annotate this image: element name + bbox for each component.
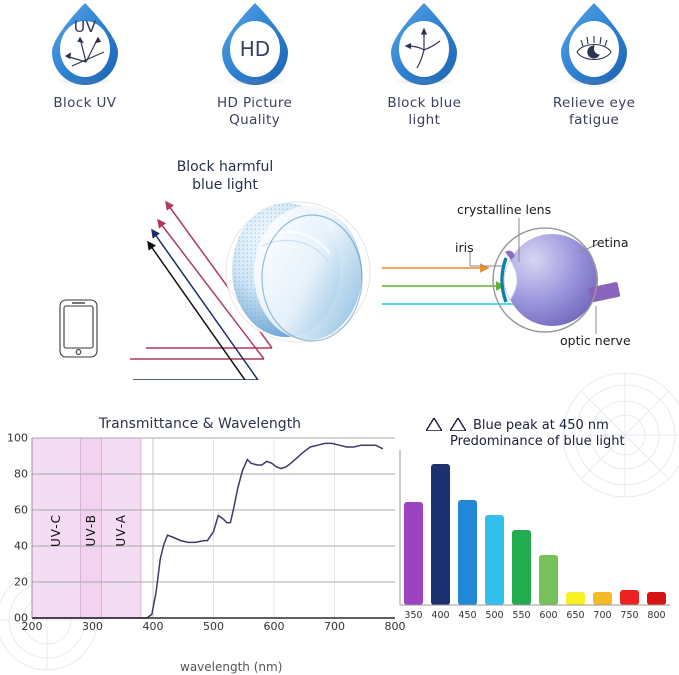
label-optic-nerve: optic nerve [560, 333, 631, 348]
bar-tick-label: 650 [566, 610, 584, 621]
x-tick-label: 300 [82, 620, 103, 633]
blue-light-spectrum-chart: Blue peak at 450 nm Predominance of blue… [380, 410, 679, 634]
bar-tick-label: 800 [647, 610, 665, 621]
label-crystalline-lens: crystalline lens [457, 202, 551, 217]
x-tick-label: 200 [22, 620, 43, 633]
feature-label-line1: Block blue [387, 95, 461, 112]
y-tick-label: 20 [14, 576, 28, 589]
droplet-shadow [224, 78, 286, 85]
bar-tick-label: 600 [539, 610, 557, 621]
feature-label-line1: Relieve eye [553, 95, 635, 112]
phone-icon [60, 300, 97, 357]
y-tick-label: 40 [14, 540, 28, 553]
x-tick-label: 500 [203, 620, 224, 633]
x-tick-label: 400 [143, 620, 164, 633]
feature-label-line1: HD Picture [217, 95, 292, 112]
y-tick-label: 80 [14, 468, 28, 481]
feature-block-blue-light: Block blue light [340, 0, 510, 140]
bar [485, 515, 504, 605]
blue-light-blocking-diagram: Block harmful blue light [0, 140, 679, 380]
transmittance-wavelength-chart: Transmittance & Wavelength 0020406080100… [0, 410, 400, 654]
feature-hd-picture-quality: HD HD Picture Quality [170, 0, 340, 140]
triangle-marker-1 [426, 418, 442, 431]
predominance-annotation: Predominance of blue light [450, 434, 625, 449]
feature-highlights: UV Block UV HD [0, 0, 679, 140]
feature-label: Block UV [53, 95, 116, 112]
feature-label: Block blue light [387, 95, 461, 129]
x-tick-label: 600 [264, 620, 285, 633]
blue-light-lens [226, 202, 370, 342]
hd-droplet-icon: HD [212, 0, 298, 86]
x-axis-label: wavelength (nm) [180, 660, 282, 674]
bar [431, 464, 450, 605]
eye-droplet-icon [551, 0, 637, 86]
y-tick-label: 60 [14, 504, 28, 517]
svg-text:UV: UV [74, 17, 97, 36]
bar [404, 502, 423, 605]
bar-tick-label: 500 [485, 610, 503, 621]
droplet-shadow [393, 78, 455, 85]
feature-label-line2: light [387, 112, 461, 129]
bar-tick-label: 450 [458, 610, 476, 621]
label-retina: retina [592, 235, 629, 250]
bar-tick-label: 700 [593, 610, 611, 621]
triangle-marker-2 [450, 418, 466, 431]
feature-relieve-eye-fatigue: Relieve eye fatigue [509, 0, 679, 140]
uv-band-label: UV-C [49, 514, 63, 547]
label-iris: iris [455, 240, 474, 255]
y-tick-label: 100 [7, 432, 28, 445]
feature-label: Relieve eye fatigue [553, 95, 635, 129]
bar [539, 555, 558, 605]
uv-droplet-icon: UV [42, 0, 128, 86]
bar [647, 592, 666, 605]
uv-band-label: UV-A [114, 514, 128, 547]
bar-tick-label: 400 [431, 610, 449, 621]
feature-label-line2: fatigue [553, 112, 635, 129]
bar [566, 592, 585, 605]
blue-light-droplet-icon [381, 0, 467, 86]
bar [620, 590, 639, 605]
feature-label-line2: Quality [217, 112, 292, 129]
bar [512, 530, 531, 605]
blue-peak-annotation: Blue peak at 450 nm [473, 418, 609, 433]
charts-section: Transmittance & Wavelength 0020406080100… [0, 380, 679, 654]
bar-tick-label: 750 [620, 610, 638, 621]
bar-tick-label: 350 [404, 610, 422, 621]
x-tick-label: 700 [324, 620, 345, 633]
uv-band-label: UV-B [84, 514, 98, 546]
feature-block-uv: UV Block UV [0, 0, 170, 140]
feature-label: HD Picture Quality [217, 95, 292, 129]
bar [593, 592, 612, 605]
bar [458, 500, 477, 605]
bars-container [400, 450, 670, 605]
svg-text:HD: HD [239, 37, 269, 61]
droplet-shadow [54, 78, 116, 85]
droplet-shadow [563, 78, 625, 85]
bar-tick-label: 550 [512, 610, 530, 621]
